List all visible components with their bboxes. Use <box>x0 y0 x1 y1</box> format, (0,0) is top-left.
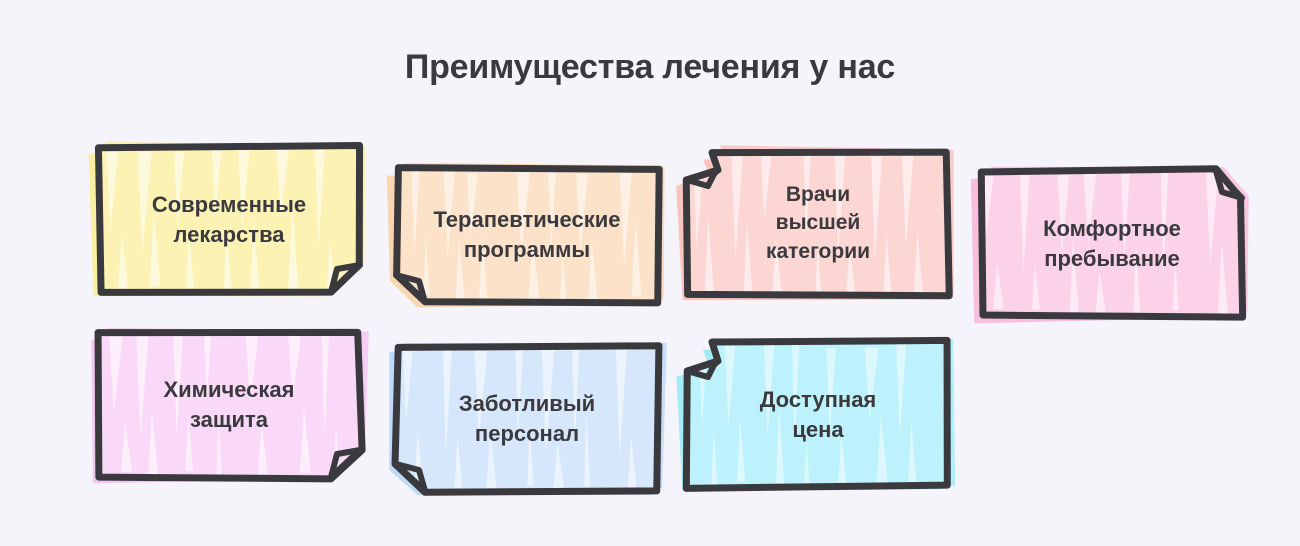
card-therapy-programs[interactable]: Терапевтические программы <box>395 167 659 303</box>
card-affordable-price[interactable]: Доступная цена <box>686 341 950 488</box>
card-caring-staff-label: Заботливый персонал <box>395 345 659 492</box>
card-chemical-protection-label: Химическая защита <box>97 331 361 478</box>
page-title: Преимущества лечения у нас <box>0 48 1300 87</box>
benefits-infographic: Преимущества лечения у нас Современные л… <box>0 0 1300 546</box>
card-modern-medicines[interactable]: Современные лекарства <box>97 146 361 293</box>
card-therapy-programs-label: Терапевтические программы <box>395 167 659 303</box>
card-top-category-doctors[interactable]: Врачи высшей категории <box>686 150 950 297</box>
card-caring-staff[interactable]: Заботливый персонал <box>395 345 659 492</box>
card-chemical-protection[interactable]: Химическая защита <box>97 331 361 478</box>
card-comfortable-stay-label: Комфортное пребывание <box>980 170 1244 317</box>
card-modern-medicines-label: Современные лекарства <box>97 146 361 293</box>
card-top-category-doctors-label: Врачи высшей категории <box>686 150 950 297</box>
card-affordable-price-label: Доступная цена <box>686 341 950 488</box>
card-comfortable-stay[interactable]: Комфортное пребывание <box>980 170 1244 317</box>
